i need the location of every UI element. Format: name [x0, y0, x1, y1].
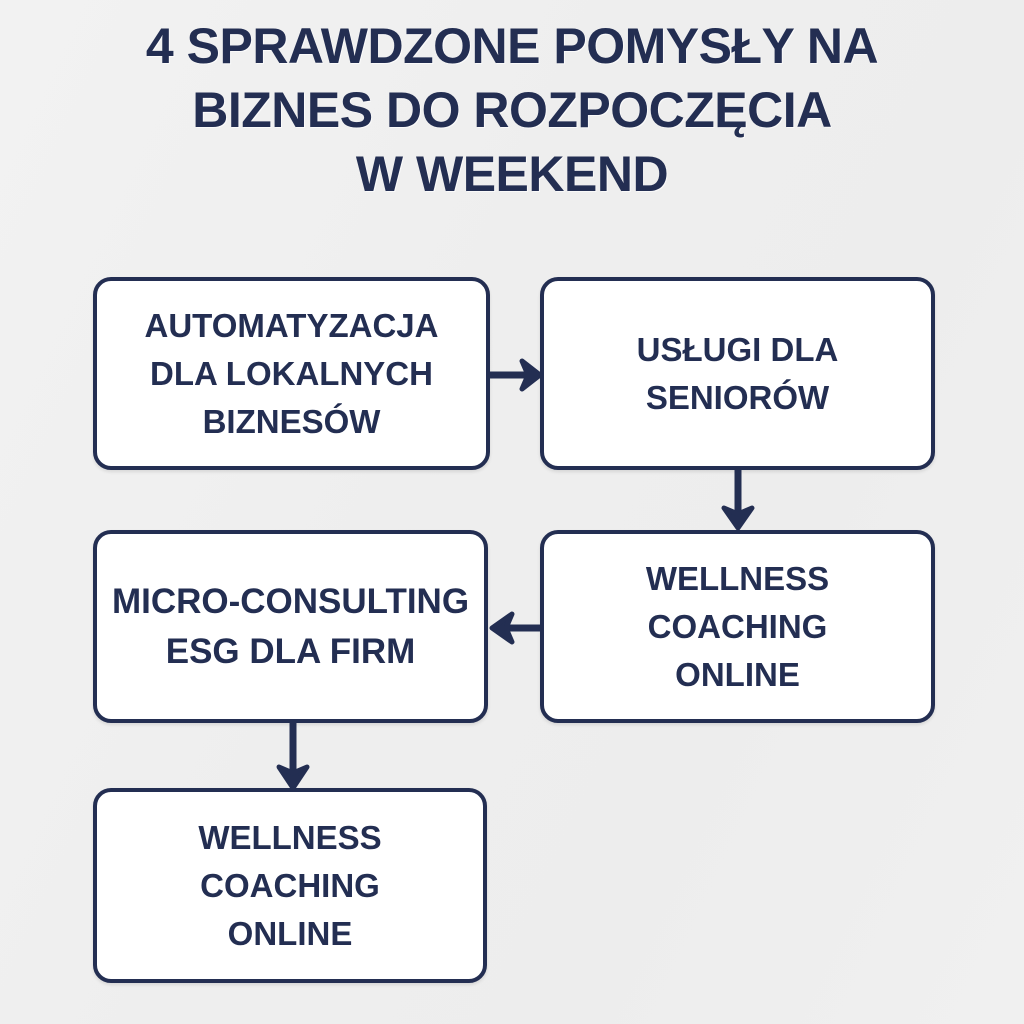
flowchart-node-uslugi-dla-seniorow[interactable]: USŁUGI DLA SENIORÓW — [540, 277, 935, 470]
node3-line-1: MICRO-CONSULTING — [112, 577, 469, 627]
arrow-down-icon — [273, 721, 313, 793]
node2-line-2: SENIORÓW — [637, 374, 839, 422]
node-label: AUTOMATYZACJA DLA LOKALNYCH BIZNESÓW — [145, 302, 439, 446]
arrow-down-icon — [718, 468, 758, 534]
node4-line-2: COACHING — [646, 603, 829, 651]
infographic-canvas: 4 SPRAWDZONE POMYSŁY NA BIZNES DO ROZPOC… — [0, 0, 1024, 1024]
flowchart-node-automatyzacja[interactable]: AUTOMATYZACJA DLA LOKALNYCH BIZNESÓW — [93, 277, 490, 470]
node5-line-2: COACHING — [198, 862, 381, 910]
arrow-right-icon — [488, 355, 546, 395]
node-label: WELLNESS COACHING ONLINE — [646, 555, 829, 699]
flowchart-node-micro-consulting-esg[interactable]: MICRO-CONSULTING ESG DLA FIRM — [93, 530, 488, 723]
node3-line-2: ESG DLA FIRM — [112, 627, 469, 677]
node4-line-3: ONLINE — [646, 651, 829, 699]
node5-line-3: ONLINE — [198, 910, 381, 958]
node-label: MICRO-CONSULTING ESG DLA FIRM — [112, 577, 469, 677]
node5-line-1: WELLNESS — [198, 814, 381, 862]
flowchart-node-wellness-coaching-online-1[interactable]: WELLNESS COACHING ONLINE — [540, 530, 935, 723]
node1-line-3: BIZNESÓW — [145, 398, 439, 446]
node-label: USŁUGI DLA SENIORÓW — [637, 326, 839, 422]
title-line-2: BIZNES DO ROZPOCZĘCIA — [0, 78, 1024, 142]
arrow-left-icon — [488, 608, 546, 648]
flowchart-node-wellness-coaching-online-2[interactable]: WELLNESS COACHING ONLINE — [93, 788, 487, 983]
node1-line-1: AUTOMATYZACJA — [145, 302, 439, 350]
node2-line-1: USŁUGI DLA — [637, 326, 839, 374]
title-line-1: 4 SPRAWDZONE POMYSŁY NA — [0, 14, 1024, 78]
node1-line-2: DLA LOKALNYCH — [145, 350, 439, 398]
node4-line-1: WELLNESS — [646, 555, 829, 603]
page-title: 4 SPRAWDZONE POMYSŁY NA BIZNES DO ROZPOC… — [0, 14, 1024, 206]
title-line-3: W WEEKEND — [0, 142, 1024, 206]
node-label: WELLNESS COACHING ONLINE — [198, 814, 381, 958]
